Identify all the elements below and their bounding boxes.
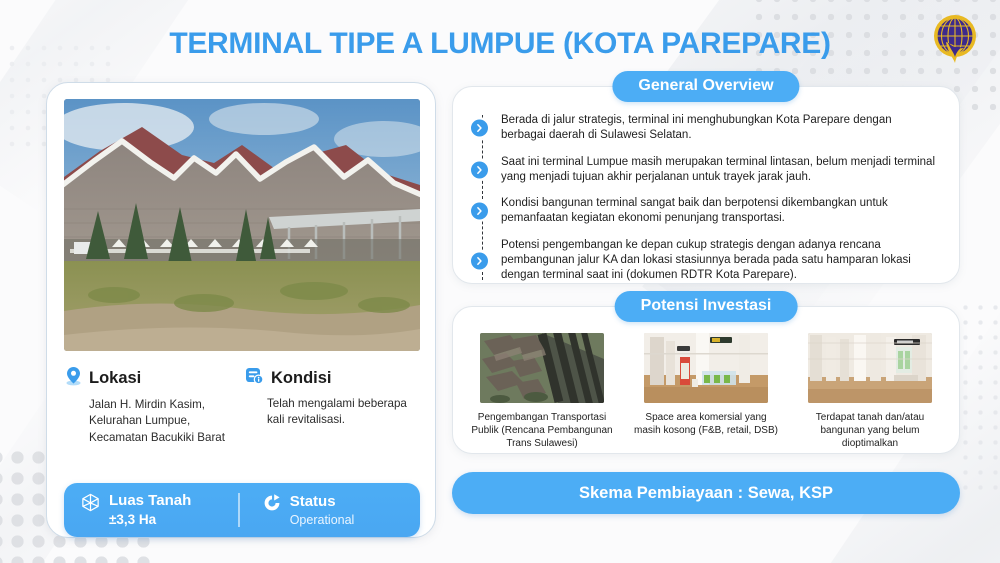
potensi-grid: Pengembangan Transportasi Publik (Rencan… <box>467 333 945 450</box>
potensi-caption: Pengembangan Transportasi Publik (Rencan… <box>467 411 617 450</box>
ministry-of-transportation-logo <box>926 10 984 68</box>
overview-bullet-text: Kondisi bangunan terminal sangat baik da… <box>501 197 888 224</box>
chevron-right-icon <box>471 120 488 137</box>
terminal-corridor-interior-photo <box>808 333 932 403</box>
kondisi-text: Telah mengalami beberapa kali revitalisa… <box>245 396 409 429</box>
chevron-right-icon <box>471 203 488 220</box>
overview-bullet: Potensi pengembangan ke depan cukup stra… <box>501 238 939 284</box>
overview-bullet-text: Berada di jalur strategis, terminal ini … <box>501 114 892 141</box>
lokasi-block: Lokasi Jalan H. Mirdin Kasim, Kelurahan … <box>65 366 229 446</box>
potensi-investasi-pill: Potensi Investasi <box>615 291 798 322</box>
potensi-caption: Space area komersial yang masih kosong (… <box>631 411 781 437</box>
building-info-icon <box>245 366 264 390</box>
overview-bullet-text: Potensi pengembangan ke depan cukup stra… <box>501 239 911 282</box>
right-column: General Overview Berada di jalur strateg… <box>452 86 960 514</box>
map-pin-icon <box>65 366 82 391</box>
potensi-investasi-card: Potensi Investasi <box>452 306 960 454</box>
potensi-caption: Terdapat tanah dan/atau bangunan yang be… <box>795 411 945 450</box>
lokasi-title: Lokasi <box>89 369 141 388</box>
page-title: TERMINAL TIPE A LUMPUE (KOTA PAREPARE) <box>169 27 830 61</box>
overview-bullet-text: Saat ini terminal Lumpue masih merupakan… <box>501 156 935 183</box>
kondisi-block: Kondisi Telah mengalami beberapa kali re… <box>245 366 409 446</box>
overview-bullet: Kondisi bangunan terminal sangat baik da… <box>501 196 939 227</box>
kondisi-heading: Kondisi <box>245 366 409 390</box>
skema-pembiayaan-label: Skema Pembiayaan : Sewa, KSP <box>579 484 833 503</box>
terminal-hero-photo <box>64 99 420 351</box>
lokasi-heading: Lokasi <box>65 366 229 391</box>
empty-commercial-interior-photo <box>644 333 768 403</box>
stats-bar: Luas Tanah ±3,3 Ha Status Operational <box>64 483 420 537</box>
overview-bullet: Saat ini terminal Lumpue masih merupakan… <box>501 155 939 186</box>
overview-bullet: Berada di jalur strategis, terminal ini … <box>501 113 939 144</box>
chevron-right-icon <box>471 161 488 178</box>
stat-luas-tanah: Luas Tanah ±3,3 Ha <box>64 492 238 528</box>
aerial-railway-photo <box>480 333 604 403</box>
dot-pattern-right <box>958 300 998 490</box>
potensi-item: Terdapat tanah dan/atau bangunan yang be… <box>795 333 945 450</box>
header: TERMINAL TIPE A LUMPUE (KOTA PAREPARE) <box>0 18 1000 70</box>
left-info-panel: Lokasi Jalan H. Mirdin Kasim, Kelurahan … <box>46 82 436 538</box>
overview-bullet-list: Berada di jalur strategis, terminal ini … <box>471 113 939 284</box>
lokasi-text: Jalan H. Mirdin Kasim, Kelurahan Lumpue,… <box>65 397 229 446</box>
cube-3d-icon <box>80 492 101 518</box>
stat-value-status: Operational <box>290 513 355 528</box>
kondisi-title: Kondisi <box>271 369 332 388</box>
chevron-right-icon <box>471 252 488 269</box>
general-overview-card: General Overview Berada di jalur strateg… <box>452 86 960 284</box>
info-row: Lokasi Jalan H. Mirdin Kasim, Kelurahan … <box>65 366 421 446</box>
stat-status: Status Operational <box>240 493 420 528</box>
stat-value-luas-tanah: ±3,3 Ha <box>109 512 191 528</box>
stat-label-status: Status <box>290 493 355 511</box>
potensi-item: Space area komersial yang masih kosong (… <box>631 333 781 450</box>
skema-pembiayaan-bar: Skema Pembiayaan : Sewa, KSP <box>452 472 960 514</box>
general-overview-pill: General Overview <box>612 71 799 102</box>
potensi-item: Pengembangan Transportasi Publik (Rencan… <box>467 333 617 450</box>
refresh-circle-icon <box>262 493 282 518</box>
stat-label-luas-tanah: Luas Tanah <box>109 492 191 510</box>
